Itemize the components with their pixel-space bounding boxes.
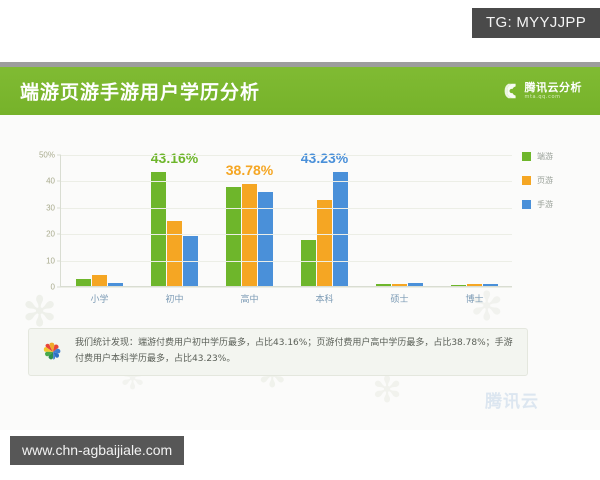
bar-cluster bbox=[62, 155, 137, 286]
y-axis-tick-label: 50% bbox=[39, 151, 55, 160]
y-axis-tick-mark bbox=[57, 287, 61, 288]
page-title: 端游页游手游用户学历分析 bbox=[20, 78, 260, 105]
y-axis-tick-label: 10 bbox=[46, 256, 55, 265]
chart-gridline bbox=[61, 155, 512, 156]
chart-value-label: 43.16% bbox=[151, 150, 198, 166]
legend-item-label: 端游 bbox=[537, 151, 553, 162]
chart-value-label: 43.23% bbox=[301, 150, 348, 166]
chart-gridline bbox=[61, 234, 512, 235]
y-axis-tick-label: 20 bbox=[46, 230, 55, 239]
tencent-analytics-icon bbox=[41, 340, 65, 364]
chart-legend: 端游页游手游 bbox=[522, 151, 553, 210]
bar-cluster bbox=[137, 155, 212, 286]
chart-bar[interactable] bbox=[258, 192, 273, 286]
chart-category-group: 博士 bbox=[437, 155, 512, 286]
chart-bar[interactable] bbox=[483, 284, 498, 286]
top-strip: TG: MYYJJPP bbox=[0, 0, 600, 62]
x-axis-category-label: 初中 bbox=[165, 292, 183, 305]
legend-item[interactable]: 端游 bbox=[522, 151, 553, 162]
y-axis-tick-mark bbox=[57, 260, 61, 261]
chart-bar[interactable] bbox=[151, 172, 166, 286]
y-axis-tick-mark bbox=[57, 155, 61, 156]
legend-item[interactable]: 页游 bbox=[522, 175, 553, 186]
y-axis-tick-label: 30 bbox=[46, 203, 55, 212]
tencent-cloud-watermark: 腾讯云 bbox=[485, 387, 539, 412]
chart-category-group: 38.78%高中 bbox=[212, 155, 287, 286]
chart-gridline bbox=[61, 287, 512, 288]
tg-badge: TG: MYYJJPP bbox=[472, 8, 600, 38]
brand-text: 腾讯云分析 mta.qq.com bbox=[525, 82, 583, 100]
chart-bar[interactable] bbox=[167, 221, 182, 286]
chart-bar[interactable] bbox=[408, 283, 423, 286]
chart-bar[interactable] bbox=[467, 284, 482, 286]
y-axis-tick-mark bbox=[57, 207, 61, 208]
chart-bar[interactable] bbox=[376, 284, 391, 286]
chart-category-group: 43.16%初中 bbox=[137, 155, 212, 286]
brand-logo: 腾讯云分析 mta.qq.com bbox=[504, 82, 583, 100]
chart-bar[interactable] bbox=[392, 284, 407, 286]
chart-category-group: 43.23%本科 bbox=[287, 155, 362, 286]
chart-bar[interactable] bbox=[451, 285, 466, 286]
legend-item-label: 页游 bbox=[537, 175, 553, 186]
summary-note-line-1: 我们统计发现：端游付费用户初中学历最多，占比43.16%；页游付费用户高中学历最… bbox=[75, 336, 513, 352]
legend-color-swatch bbox=[522, 200, 531, 209]
x-axis-category-label: 高中 bbox=[240, 292, 258, 305]
chart-category-group: 硕士 bbox=[362, 155, 437, 286]
x-axis-category-label: 小学 bbox=[90, 292, 108, 305]
chart-bar[interactable] bbox=[76, 279, 91, 286]
x-axis-category-label: 硕士 bbox=[390, 292, 408, 305]
summary-note-text: 我们统计发现：端游付费用户初中学历最多，占比43.16%；页游付费用户高中学历最… bbox=[75, 336, 513, 368]
y-axis-tick-mark bbox=[57, 181, 61, 182]
bottom-strip: www.chn-agbaijiale.com bbox=[0, 430, 600, 480]
chart-gridline bbox=[61, 208, 512, 209]
education-bar-chart: 小学43.16%初中38.78%高中43.23%本科硕士博士 010203040… bbox=[22, 145, 578, 330]
chart-gridline bbox=[61, 181, 512, 182]
brand-name: 腾讯云分析 bbox=[525, 82, 583, 93]
url-badge: www.chn-agbaijiale.com bbox=[10, 436, 184, 465]
bar-cluster bbox=[437, 155, 512, 286]
y-axis-tick-label: 0 bbox=[51, 283, 55, 292]
chart-value-label: 38.78% bbox=[226, 162, 273, 178]
legend-item[interactable]: 手游 bbox=[522, 199, 553, 210]
chart-bar[interactable] bbox=[108, 283, 123, 286]
x-axis-category-label: 博士 bbox=[465, 292, 483, 305]
chart-bar[interactable] bbox=[226, 187, 241, 286]
chart-plot-area: 小学43.16%初中38.78%高中43.23%本科硕士博士 010203040… bbox=[60, 155, 512, 287]
bar-cluster bbox=[362, 155, 437, 286]
chart-bar[interactable] bbox=[333, 172, 348, 286]
chart-category-group: 小学 bbox=[62, 155, 137, 286]
legend-color-swatch bbox=[522, 176, 531, 185]
summary-note-box: 我们统计发现：端游付费用户初中学历最多，占比43.16%；页游付费用户高中学历最… bbox=[28, 328, 528, 376]
chart-bar[interactable] bbox=[92, 275, 107, 286]
bar-cluster bbox=[287, 155, 362, 286]
legend-item-label: 手游 bbox=[537, 199, 553, 210]
chart-bar-groups: 小学43.16%初中38.78%高中43.23%本科硕士博士 bbox=[62, 155, 512, 286]
page-header: 端游页游手游用户学历分析 腾讯云分析 mta.qq.com bbox=[0, 67, 600, 115]
snowflake-watermark-icon: ✻ bbox=[372, 373, 402, 409]
x-axis-category-label: 本科 bbox=[315, 292, 333, 305]
summary-note-line-2: 付费用户本科学历最多，占比43.23%。 bbox=[75, 352, 513, 368]
y-axis-tick-label: 40 bbox=[46, 177, 55, 186]
chart-gridline bbox=[61, 261, 512, 262]
y-axis-tick-mark bbox=[57, 234, 61, 235]
brand-subtitle: mta.qq.com bbox=[525, 95, 583, 100]
chart-bar[interactable] bbox=[317, 200, 332, 286]
legend-color-swatch bbox=[522, 152, 531, 161]
chart-bar[interactable] bbox=[301, 240, 316, 286]
tencent-cloud-icon bbox=[504, 83, 520, 99]
content-area: ✻ ✻ ✻ ✻ ✻ 小学43.16%初中38.78%高中43.23%本科硕士博士… bbox=[0, 115, 600, 430]
